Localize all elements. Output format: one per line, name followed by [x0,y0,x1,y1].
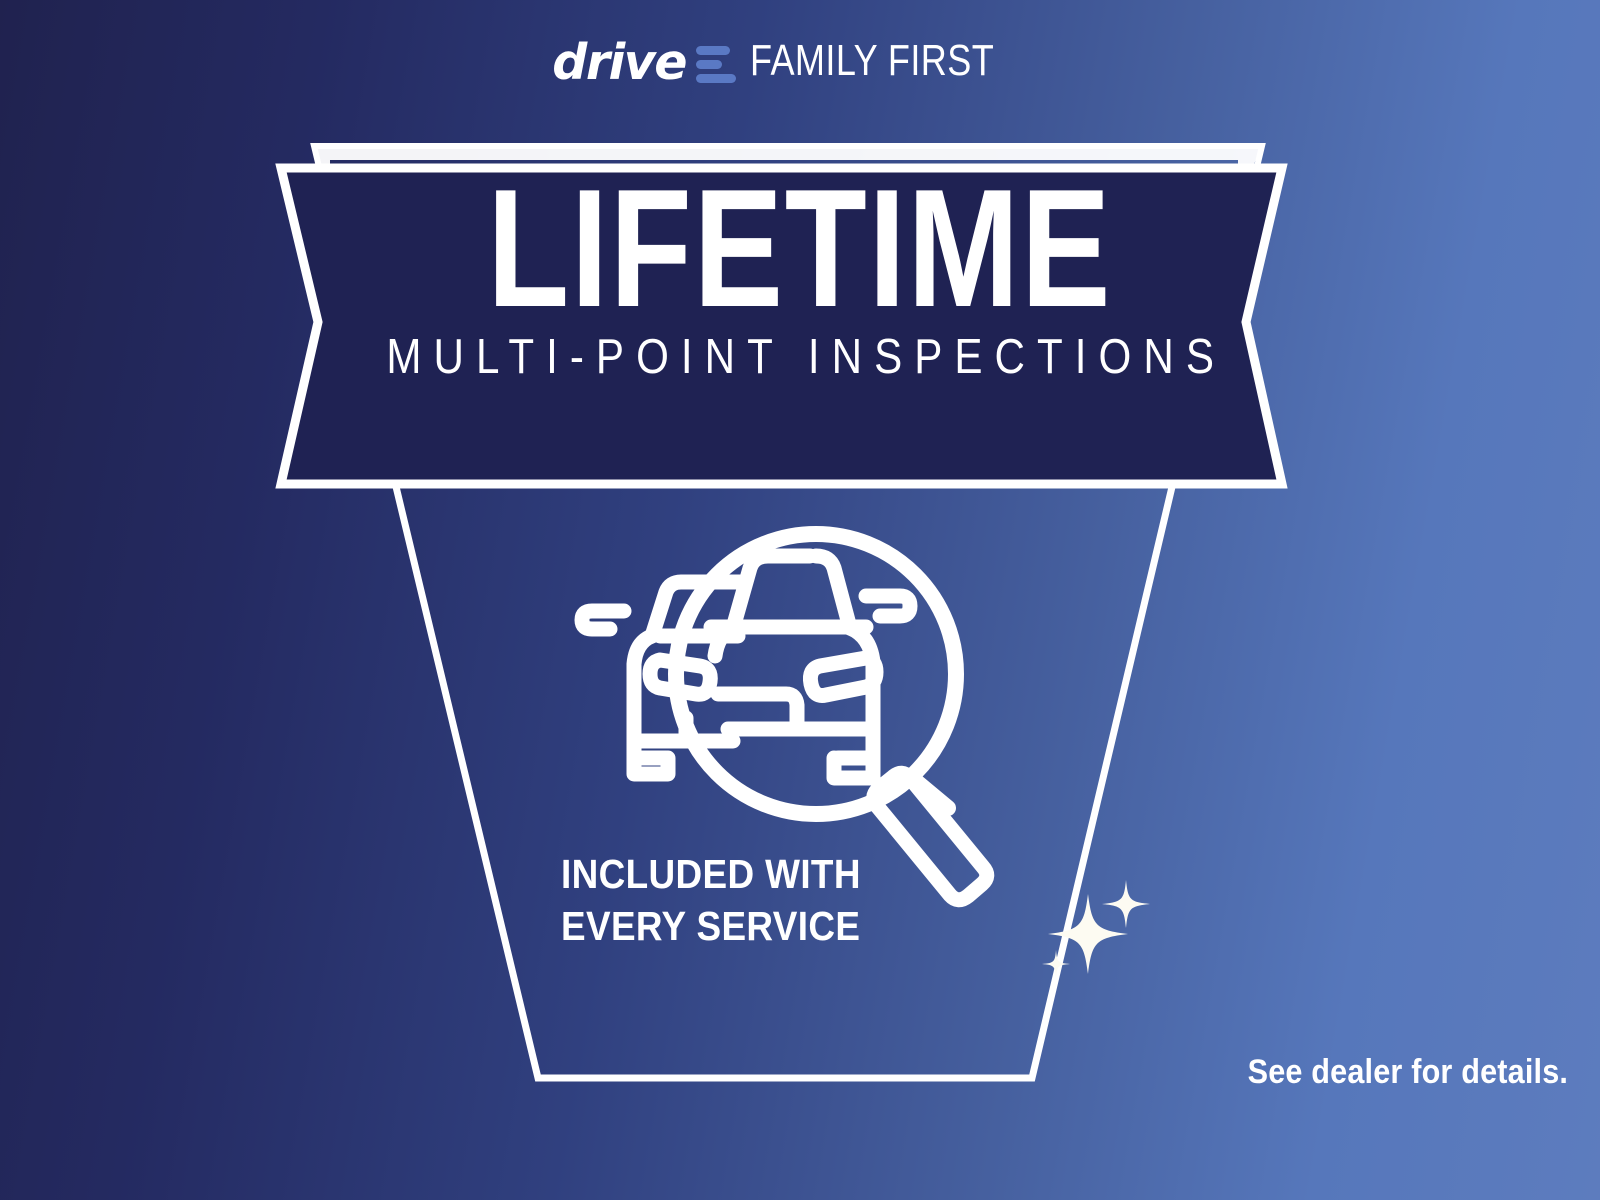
three-bars-icon [696,46,736,83]
brand-header: drive FAMILY FIRST [0,30,1600,92]
main-banner-shape [281,168,1282,484]
subheadline-multipoint: MULTI-POINT INSPECTIONS [374,333,1226,382]
magnifier-lens-ring [676,534,956,814]
crest-graphic [0,0,1600,1200]
included-text-block: INCLUDED WITH EVERY SERVICE [561,848,861,953]
brand-tagline: FAMILY FIRST [750,39,994,83]
promo-canvas: drive FAMILY FIRST LIFETIME MULTI-POINT … [0,0,1600,1200]
headline-lifetime: LIFETIME [487,168,1112,329]
magnified-car-shape [711,556,910,778]
included-line-2: EVERY SERVICE [561,900,861,952]
sparkle-star-icon-small [1042,950,1070,978]
ghost-banner-outline [314,146,1262,196]
background-car-shape [582,582,740,774]
ghost-banner-shape [314,146,1262,178]
banner-text-block: LIFETIME MULTI-POINT INSPECTIONS [0,168,1600,382]
sparkle-star-icon-medium [1102,880,1150,928]
brand-wordmark: drive [552,38,686,87]
included-line-1: INCLUDED WITH [561,848,861,900]
sparkle-cluster [1010,850,1170,1000]
sparkle-star-icon-large [1048,894,1128,974]
trapezoid-outline-shape [392,470,1176,1078]
magnifier-handle-shape [874,773,987,900]
disclaimer-text: See dealer for details. [1248,1053,1568,1092]
